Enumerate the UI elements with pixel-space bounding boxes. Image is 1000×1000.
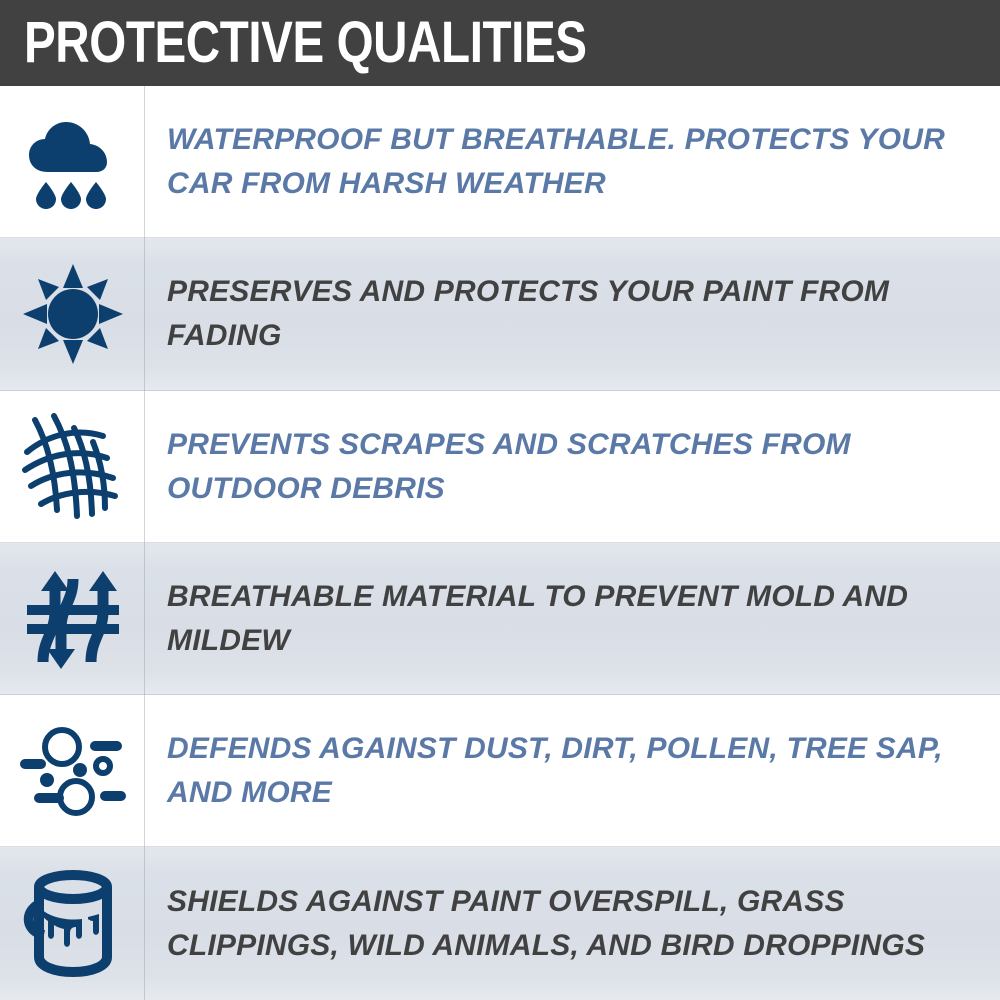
breathable-arrows-icon (21, 567, 125, 671)
header-bar: PROTECTIVE QUALITIES (0, 0, 1000, 86)
icon-cell (0, 847, 145, 999)
feature-text: BREATHABLE MATERIAL TO PREVENT MOLD AND … (167, 575, 966, 663)
icon-cell (0, 543, 145, 695)
feature-row: PRESERVES AND PROTECTS YOUR PAINT FROM F… (0, 238, 1000, 390)
text-cell: PREVENTS SCRAPES AND SCRATCHES FROM OUTD… (145, 391, 1000, 543)
icon-cell (0, 86, 145, 238)
infographic-page: PROTECTIVE QUALITIES WAT (0, 0, 1000, 1000)
text-cell: BREATHABLE MATERIAL TO PREVENT MOLD AND … (145, 543, 1000, 695)
mesh-net-icon (21, 412, 125, 522)
feature-row: DEFENDS AGAINST DUST, DIRT, POLLEN, TREE… (0, 695, 1000, 847)
rain-cloud-icon (21, 110, 125, 214)
icon-cell (0, 391, 145, 543)
feature-list: WATERPROOF BUT BREATHABLE. PROTECTS YOUR… (0, 86, 1000, 1000)
text-cell: PRESERVES AND PROTECTS YOUR PAINT FROM F… (145, 238, 1000, 390)
feature-text: SHIELDS AGAINST PAINT OVERSPILL, GRASS C… (167, 880, 966, 968)
page-title: PROTECTIVE QUALITIES (24, 14, 587, 72)
text-cell: WATERPROOF BUT BREATHABLE. PROTECTS YOUR… (145, 86, 1000, 238)
feature-row: PREVENTS SCRAPES AND SCRATCHES FROM OUTD… (0, 391, 1000, 543)
feature-text: WATERPROOF BUT BREATHABLE. PROTECTS YOUR… (167, 118, 966, 206)
text-cell: SHIELDS AGAINST PAINT OVERSPILL, GRASS C… (145, 847, 1000, 999)
sun-icon (21, 262, 125, 366)
feature-row: WATERPROOF BUT BREATHABLE. PROTECTS YOUR… (0, 86, 1000, 238)
feature-text: PREVENTS SCRAPES AND SCRATCHES FROM OUTD… (167, 423, 966, 511)
feature-row: BREATHABLE MATERIAL TO PREVENT MOLD AND … (0, 543, 1000, 695)
dust-particles-icon (18, 721, 128, 821)
feature-text: PRESERVES AND PROTECTS YOUR PAINT FROM F… (167, 270, 966, 358)
feature-text: DEFENDS AGAINST DUST, DIRT, POLLEN, TREE… (167, 727, 966, 815)
icon-cell (0, 238, 145, 390)
text-cell: DEFENDS AGAINST DUST, DIRT, POLLEN, TREE… (145, 695, 1000, 847)
icon-cell (0, 695, 145, 847)
paint-can-icon (20, 869, 126, 979)
feature-row: SHIELDS AGAINST PAINT OVERSPILL, GRASS C… (0, 847, 1000, 999)
